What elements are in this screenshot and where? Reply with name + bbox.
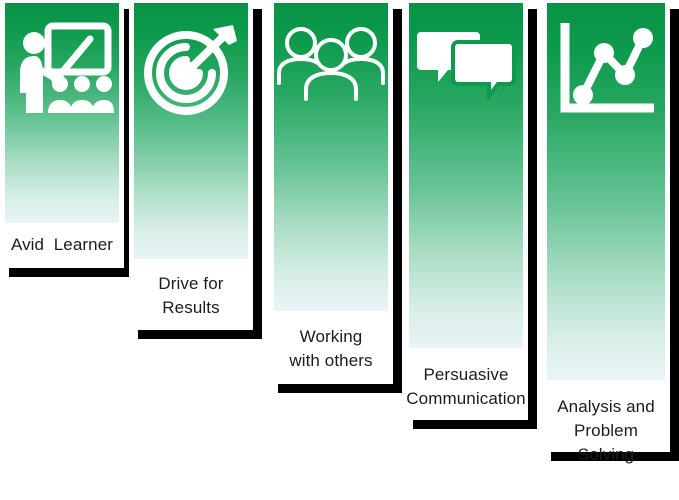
competency-label-persuasive-communication: Persuasive Communication (404, 363, 528, 411)
competency-column-persuasive-communication[interactable]: Persuasive Communication (404, 0, 528, 420)
competency-label-avid-learner: Avid Learner (0, 233, 124, 257)
icon-container (547, 23, 665, 115)
infographic-canvas: Avid Learner Drive for (0, 0, 679, 500)
competency-column-avid-learner[interactable]: Avid Learner (0, 0, 124, 268)
competency-label-drive-for-results: Drive for Results (129, 272, 253, 320)
icon-container (409, 28, 523, 100)
target-bullseye-arrow-icon (141, 21, 241, 117)
competency-column-drive-for-results[interactable]: Drive for Results (129, 0, 253, 330)
gradient-bar (274, 3, 388, 311)
competency-column-analysis-and-problem-solving[interactable]: Analysis and Problem Solving (542, 0, 670, 452)
icon-container (134, 21, 248, 117)
three-people-group-icon (276, 25, 386, 101)
gradient-bar (547, 3, 665, 380)
competency-column-working-with-others[interactable]: Working with others (269, 0, 393, 384)
speech-bubbles-icon (416, 28, 516, 100)
gradient-bar (5, 3, 119, 223)
gradient-bar (409, 3, 523, 348)
icon-container (5, 21, 119, 113)
competency-label-working-with-others: Working with others (269, 325, 393, 373)
teacher-presentation-icon (10, 21, 114, 113)
gradient-bar (134, 3, 248, 259)
line-chart-icon (558, 23, 654, 115)
competency-label-analysis-and-problem-solving: Analysis and Problem Solving (542, 395, 670, 467)
icon-container (274, 25, 388, 101)
